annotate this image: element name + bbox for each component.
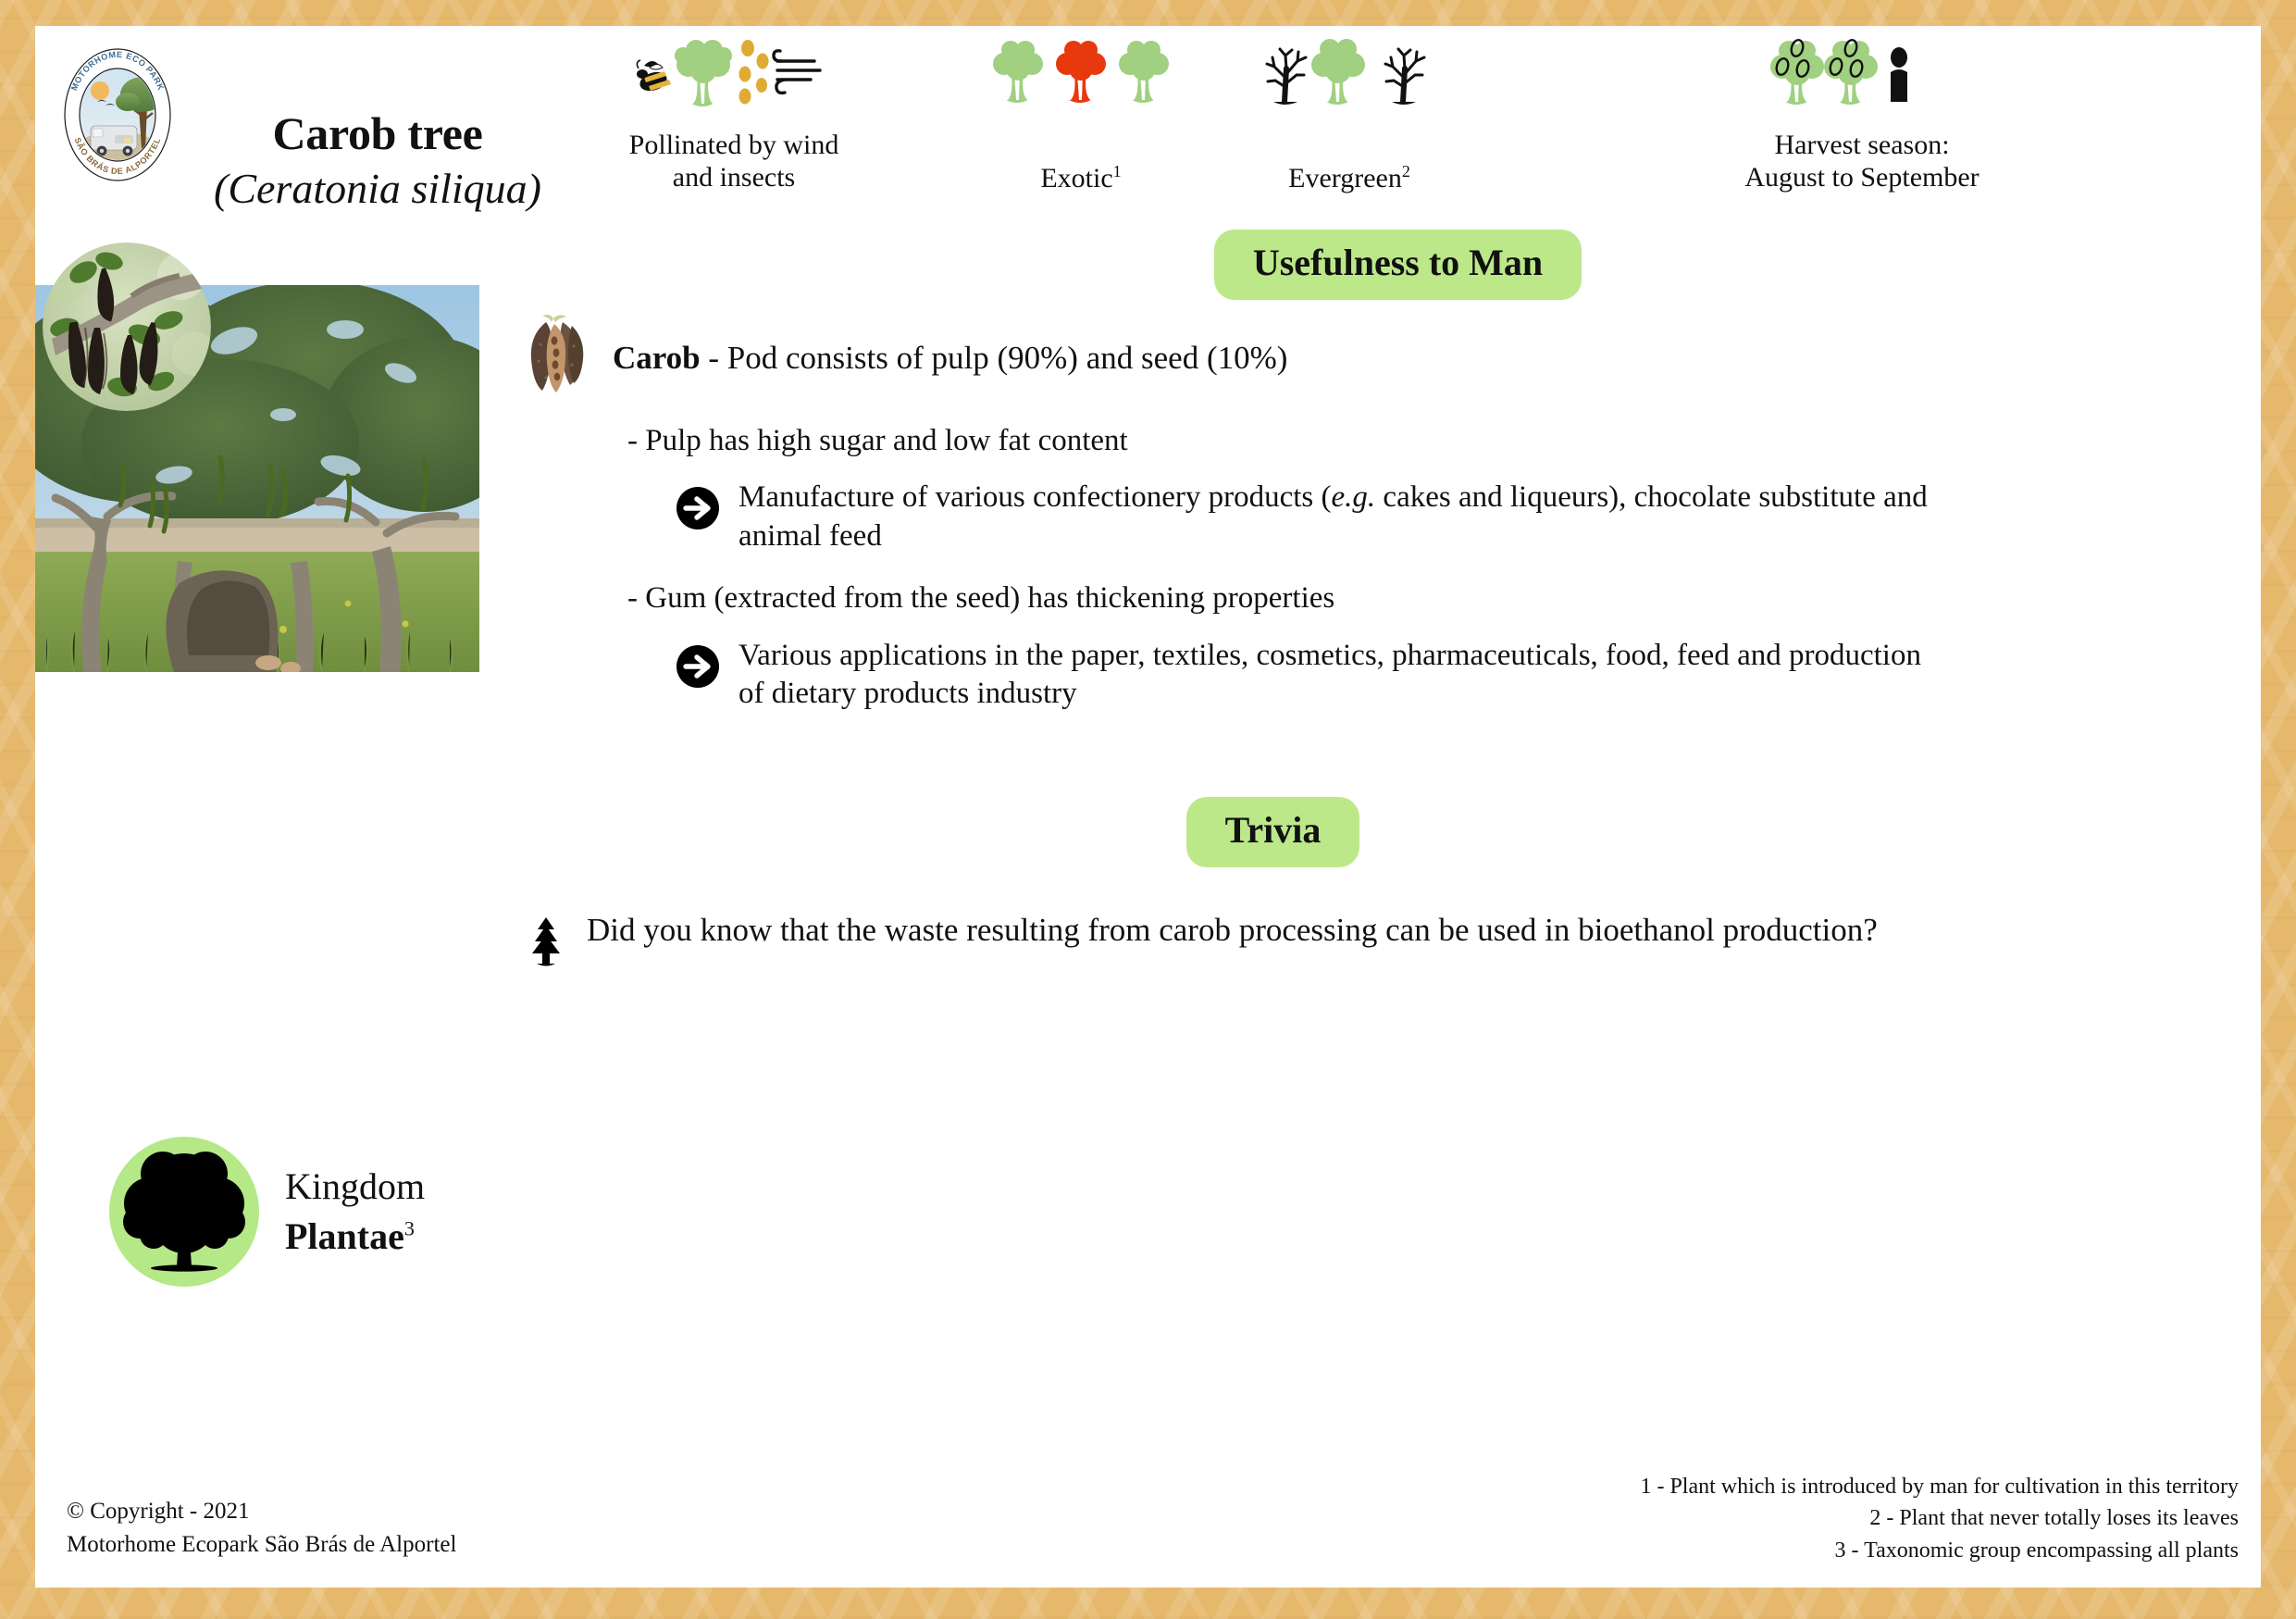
kingdom-block: Kingdom Plantae3: [109, 1137, 425, 1287]
list-item-applications: Various applications in the paper, texti…: [676, 637, 2252, 714]
fact-harvest-label: Harvest season: August to September: [1744, 130, 1979, 194]
fact-pollination-label: Pollinated by wind and insects: [629, 130, 839, 194]
confectionery-text-before: Manufacture of various confectionery pro…: [738, 480, 1332, 514]
fact-evergreen-footnote-ref: 2: [1402, 162, 1410, 181]
kingdom-label: Kingdom: [285, 1164, 425, 1209]
footnote-3: 3 - Taxonomic group encompassing all pla…: [1640, 1535, 2239, 1567]
list-item-confectionery-text: Manufacture of various confectionery pro…: [738, 479, 1932, 555]
usefulness-list: Carob - Pod consists of pulp (90%) and s…: [516, 328, 2252, 714]
list-item-carob: Carob - Pod consists of pulp (90%) and s…: [526, 328, 2252, 398]
fact-exotic-text: Exotic: [1040, 163, 1112, 193]
list-item-carob-text: Carob - Pod consists of pulp (90%) and s…: [613, 328, 1287, 378]
carob-rest-text: - Pod consists of pulp (90%) and seed (1…: [701, 340, 1288, 376]
usefulness-heading-badge: Usefulness to Man: [1214, 230, 1582, 300]
list-item-confectionery: Manufacture of various confectionery pro…: [676, 479, 2252, 555]
fact-evergreen-label: Evergreen2: [1288, 130, 1410, 195]
trivia-section: Trivia Did you know that the waste re: [516, 797, 2252, 967]
footnote-1: 1 - Plant which is introduced by man for…: [1640, 1471, 2239, 1503]
usefulness-heading-row: Usefulness to Man: [516, 230, 2252, 300]
list-item-pulp: - Pulp has high sugar and low fat conten…: [627, 422, 2252, 460]
footnotes-block: 1 - Plant which is introduced by man for…: [1640, 1471, 2239, 1567]
trivia-text: Did you know that the waste resulting fr…: [587, 910, 1878, 951]
arrow-right-circle-icon: [676, 644, 720, 689]
fact-exotic-footnote-ref: 1: [1113, 162, 1122, 181]
bare-trees-green-tree-icon: [1257, 33, 1442, 118]
carob-pods-on-branch-photo: [43, 243, 211, 411]
list-item-gum: - Gum (extracted from the seed) has thic…: [627, 579, 2252, 617]
content-column: Usefulness to Man: [516, 230, 2252, 1430]
bee-tree-wind-icon: [627, 33, 840, 118]
carob-bold-lead: Carob: [613, 340, 701, 376]
fact-harvest: Harvest season: August to September: [1584, 33, 2140, 194]
fact-exotic: Exotic1: [951, 33, 1210, 195]
fact-icon-row: Pollinated by wind and insects: [516, 33, 2261, 218]
organisation-line: Motorhome Ecopark São Brás de Alportel: [67, 1528, 456, 1562]
footer-copyright: © Copyright - 2021 Motorhome Ecopark São…: [67, 1495, 456, 1563]
three-trees-one-red-icon: [990, 33, 1172, 118]
header-strip: MOTORHOME ECO PARK SÃO BRÁS DE ALPORTEL …: [35, 26, 2261, 239]
fruit-trees-person-icon: [1769, 33, 1955, 118]
tree-silhouette-icon: [109, 1137, 259, 1287]
kingdom-value: Plantae: [285, 1215, 404, 1257]
footnote-2: 2 - Plant that never totally loses its l…: [1640, 1502, 2239, 1535]
kingdom-value-row: Plantae3: [285, 1214, 425, 1259]
fact-pollination: Pollinated by wind and insects: [516, 33, 951, 194]
confectionery-text-italic: e.g.: [1332, 480, 1376, 514]
trivia-heading-badge: Trivia: [1186, 797, 1360, 867]
fact-evergreen-text: Evergreen: [1288, 163, 1402, 193]
poster-card: MOTORHOME ECO PARK SÃO BRÁS DE ALPORTEL …: [35, 26, 2261, 1588]
kingdom-text: Kingdom Plantae3: [285, 1164, 425, 1259]
trivia-heading-row: Trivia: [516, 797, 2252, 867]
fir-tree-icon: [526, 917, 566, 967]
arrow-right-circle-icon: [676, 486, 720, 530]
kingdom-footnote-ref: 3: [404, 1217, 415, 1240]
copyright-line: © Copyright - 2021: [67, 1495, 456, 1528]
trivia-item: Did you know that the waste resulting fr…: [516, 910, 2252, 967]
carob-pod-icon: [526, 313, 596, 398]
fact-evergreen: Evergreen2: [1210, 33, 1488, 195]
fact-exotic-label: Exotic1: [1040, 130, 1121, 195]
list-item-applications-text: Various applications in the paper, texti…: [738, 637, 1932, 714]
